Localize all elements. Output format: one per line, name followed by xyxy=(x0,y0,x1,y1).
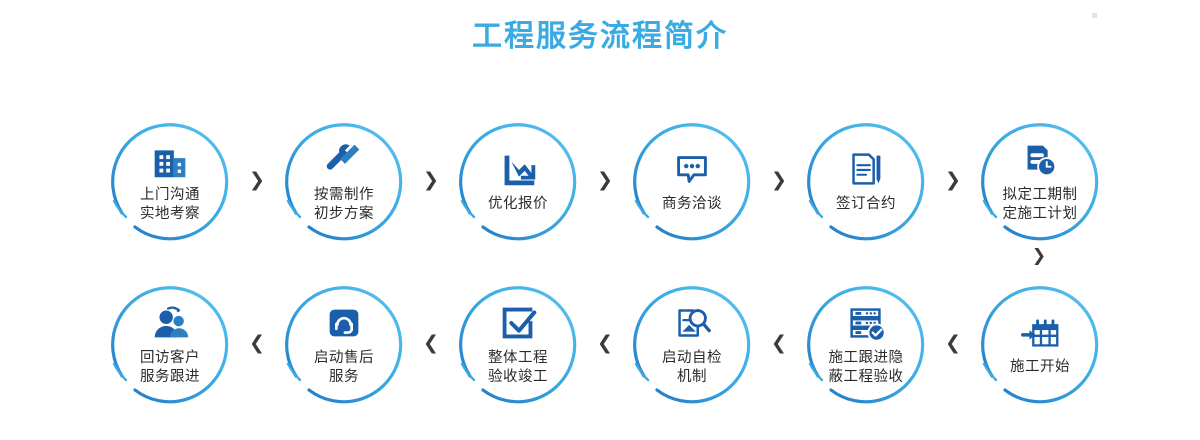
page-title: 工程服务流程简介 xyxy=(0,22,1200,52)
customer-followup-icon xyxy=(147,300,193,346)
flow-row-2: 回访客户 服务跟进 ❮ xyxy=(95,268,1115,418)
document-clock-icon xyxy=(1017,137,1063,183)
node-label-line2: 实地考察 xyxy=(140,205,200,224)
flow-node-construction-start[interactable]: 施工开始 xyxy=(965,268,1115,418)
flow-node-self-inspection[interactable]: 启动自检 机制 xyxy=(617,268,767,418)
node-label-line2: 蔽工程验收 xyxy=(829,368,904,387)
node-label-line1: 施工跟进隐 xyxy=(829,349,904,368)
node-label-line2: 初步方案 xyxy=(314,205,374,224)
contract-pen-icon xyxy=(843,146,889,192)
node-label-line1: 启动售后 xyxy=(314,349,374,368)
connector-backward: ❮ xyxy=(767,268,791,418)
speech-bubble-icon xyxy=(669,146,715,192)
node-label-line1: 整体工程 xyxy=(488,349,548,368)
node-label-line1: 施工开始 xyxy=(1010,358,1070,377)
flow-node-optimize-quote[interactable]: 优化报价 xyxy=(443,105,593,255)
node-label-line1: 上门沟通 xyxy=(140,186,200,205)
headset-support-icon xyxy=(321,300,367,346)
flow-node-customer-followup[interactable]: 回访客户 服务跟进 xyxy=(95,268,245,418)
node-label-line1: 回访客户 xyxy=(140,349,200,368)
flow-node-preliminary-plan[interactable]: 按需制作 初步方案 xyxy=(269,105,419,255)
node-label-line2: 服务 xyxy=(329,368,359,387)
connector-down: ❯ xyxy=(1027,245,1051,267)
connector-backward: ❮ xyxy=(593,268,617,418)
node-label-line2: 验收竣工 xyxy=(488,368,548,387)
flow-node-concealed-work-acceptance[interactable]: 施工跟进隐 蔽工程验收 xyxy=(791,268,941,418)
process-flow-infographic: 工程服务流程简介 xyxy=(0,0,1200,440)
node-label-line1: 优化报价 xyxy=(488,195,548,214)
connector-forward: ❯ xyxy=(419,105,443,255)
node-label-line2: 定施工计划 xyxy=(1003,205,1078,224)
flow-node-after-sales-service[interactable]: 启动售后 服务 xyxy=(269,268,419,418)
flow-node-site-visit[interactable]: 上门沟通 实地考察 xyxy=(95,105,245,255)
connector-forward: ❯ xyxy=(941,105,965,255)
connector-forward: ❯ xyxy=(593,105,617,255)
document-magnifier-icon xyxy=(669,300,715,346)
connector-backward: ❮ xyxy=(245,268,269,418)
node-label-line2: 服务跟进 xyxy=(140,368,200,387)
office-building-icon xyxy=(147,137,193,183)
wrench-screwdriver-icon xyxy=(321,137,367,183)
checkbox-approved-icon xyxy=(495,300,541,346)
connector-backward: ❮ xyxy=(419,268,443,418)
corner-watermark-mark xyxy=(1092,13,1097,18)
node-label-line1: 启动自检 xyxy=(662,349,722,368)
flow-node-schedule-plan[interactable]: 拟定工期制 定施工计划 xyxy=(965,105,1115,255)
flow-node-final-acceptance[interactable]: 整体工程 验收竣工 xyxy=(443,268,593,418)
flow-node-sign-contract[interactable]: 签订合约 xyxy=(791,105,941,255)
connector-forward: ❯ xyxy=(245,105,269,255)
node-label-line2: 机制 xyxy=(677,368,707,387)
calendar-start-icon xyxy=(1017,309,1063,355)
declining-chart-icon xyxy=(495,146,541,192)
flow-row-1: 上门沟通 实地考察 ❯ xyxy=(95,105,1115,255)
connector-forward: ❯ xyxy=(767,105,791,255)
node-label-line1: 签订合约 xyxy=(836,195,896,214)
server-check-icon xyxy=(843,300,889,346)
flow-node-business-negotiation[interactable]: 商务洽谈 xyxy=(617,105,767,255)
connector-backward: ❮ xyxy=(941,268,965,418)
node-label-line1: 拟定工期制 xyxy=(1003,186,1078,205)
node-label-line1: 按需制作 xyxy=(314,186,374,205)
node-label-line1: 商务洽谈 xyxy=(662,195,722,214)
